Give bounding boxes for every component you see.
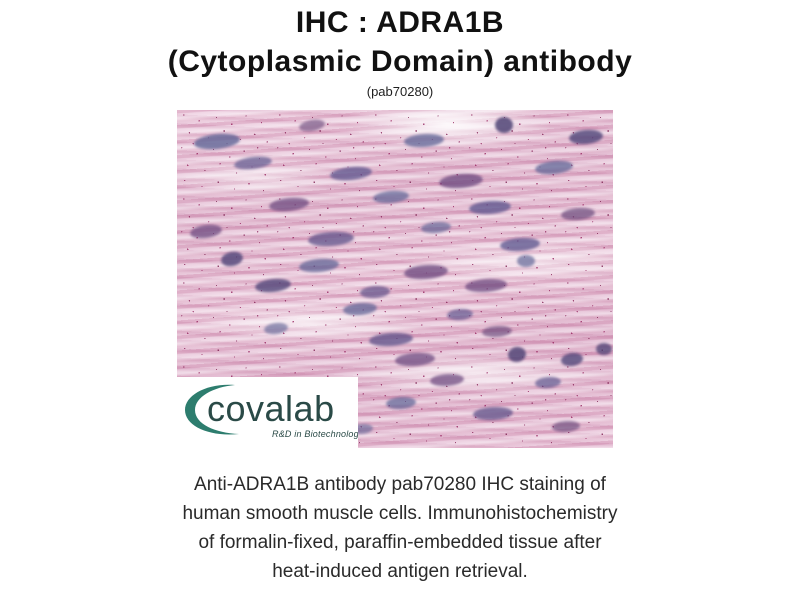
- ihc-figure: covalab R&D in Biotechnology: [177, 110, 613, 448]
- caption-line: human smooth muscle cells. Immunohistoch…: [0, 499, 800, 528]
- page-title: IHC : ADRA1B (Cytoplasmic Domain) antibo…: [0, 0, 800, 101]
- figure-caption: Anti-ADRA1B antibody pab70280 IHC staini…: [0, 470, 800, 586]
- logo-wordmark: covalab: [207, 388, 335, 429]
- title-line-secondary: (Cytoplasmic Domain) antibody: [0, 42, 800, 82]
- caption-line: heat-induced antigen retrieval.: [0, 557, 800, 586]
- covalab-logo: covalab R&D in Biotechnology: [177, 377, 358, 448]
- catalog-number: (pab70280): [0, 83, 800, 101]
- cell-nucleus: [495, 117, 513, 133]
- logo-tagline: R&D in Biotechnology: [272, 429, 358, 439]
- caption-line: Anti-ADRA1B antibody pab70280 IHC staini…: [0, 470, 800, 499]
- title-line-primary: IHC : ADRA1B: [0, 4, 800, 42]
- caption-line: of formalin-fixed, paraffin-embedded tis…: [0, 528, 800, 557]
- cell-nucleus: [517, 255, 535, 267]
- covalab-logo-graphic: covalab R&D in Biotechnology: [177, 377, 358, 448]
- cell-nucleus: [596, 343, 612, 355]
